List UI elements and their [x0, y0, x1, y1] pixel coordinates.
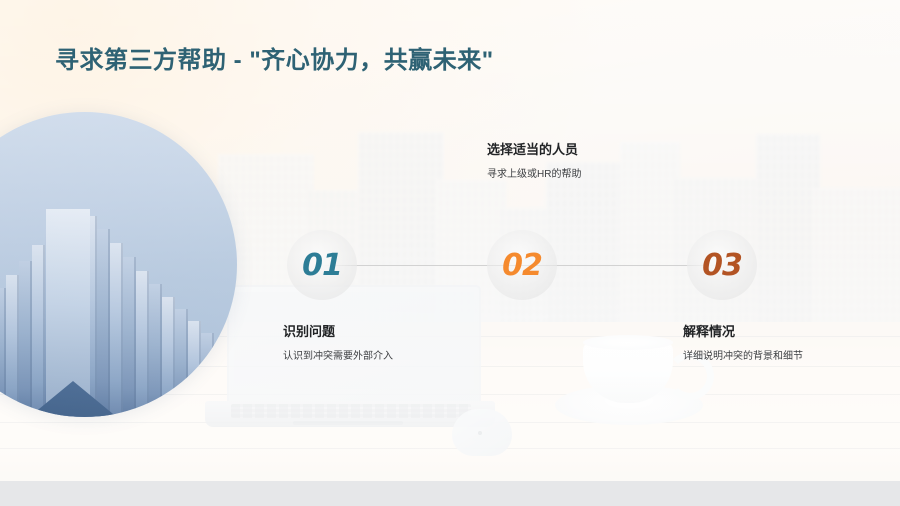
timeline-node-02[interactable]: 02	[487, 230, 557, 300]
timeline-node-01[interactable]: 01	[287, 230, 357, 300]
timeline-number-02: 02	[502, 248, 542, 283]
step-heading-03: 解释情况	[683, 324, 803, 341]
timeline-number-01: 01	[302, 248, 342, 283]
timeline-step-01: 识别问题 认识到冲突需要外部介入	[283, 324, 393, 363]
timeline-number-03: 03	[702, 248, 742, 283]
architecture-circle-photo	[0, 112, 237, 417]
step-subtitle-03: 详细说明冲突的背景和细节	[683, 350, 803, 363]
timeline-step-03: 解释情况 详细说明冲突的背景和细节	[683, 324, 803, 363]
slide-title: 寻求第三方帮助 - "齐心协力，共赢未来"	[55, 40, 494, 75]
step-subtitle-01: 认识到冲突需要外部介入	[283, 350, 393, 363]
step-heading-01: 识别问题	[283, 324, 393, 341]
bottom-strip	[0, 481, 900, 506]
presentation-slide: 寻求第三方帮助 - "齐心协力，共赢未来" 01 02 03 识别问题 认识到冲…	[0, 0, 900, 506]
step-subtitle-02: 寻求上级或HR的帮助	[487, 168, 581, 181]
step-heading-02: 选择适当的人员	[487, 142, 581, 159]
timeline-node-03[interactable]: 03	[687, 230, 757, 300]
timeline-step-02: 选择适当的人员 寻求上级或HR的帮助	[487, 142, 581, 181]
